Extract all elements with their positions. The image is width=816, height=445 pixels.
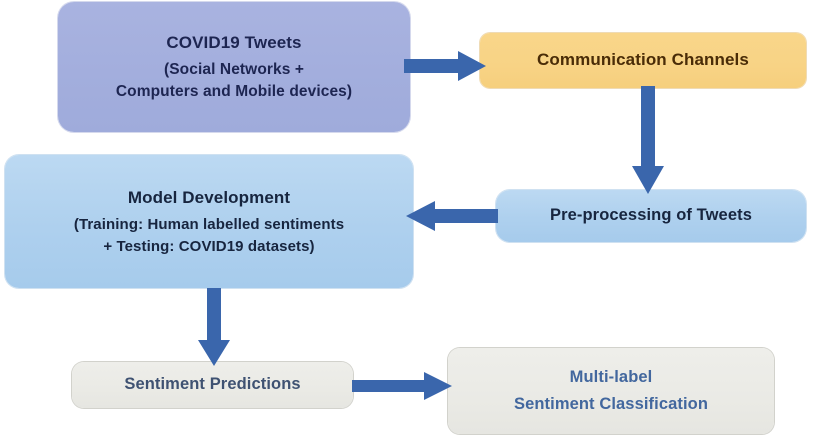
node-model-development-line2: (Training: Human labelled sentiments — [5, 214, 413, 235]
arrow-right-icon-predictions-to-multi-label — [352, 372, 452, 400]
node-covid19-tweets[interactable]: COVID19 Tweets (Social Networks + Comput… — [58, 2, 410, 132]
node-communication-channels-label: Communication Channels — [480, 48, 806, 72]
node-covid19-tweets-line3: Computers and Mobile devices) — [58, 81, 410, 103]
arrow-right-icon-source-to-channel — [404, 51, 486, 81]
node-communication-channels[interactable]: Communication Channels — [480, 33, 806, 88]
node-model-development-title: Model Development — [5, 186, 413, 210]
arrow-left-icon-preprocessing-to-model-development — [406, 201, 498, 231]
node-sentiment-predictions[interactable]: Sentiment Predictions — [72, 362, 353, 408]
node-model-development[interactable]: Model Development (Training: Human label… — [5, 155, 413, 288]
node-preprocessing-of-tweets-label: Pre-processing of Tweets — [496, 204, 806, 227]
node-multi-label-line1: Multi-label — [448, 366, 774, 389]
node-preprocessing-of-tweets[interactable]: Pre-processing of Tweets — [496, 190, 806, 242]
node-multi-label-sentiment-classification[interactable]: Multi-label Sentiment Classification — [448, 348, 774, 434]
node-covid19-tweets-title: COVID19 Tweets — [58, 31, 410, 55]
arrow-down-icon-channel-to-preprocessing — [632, 86, 664, 194]
flowchart-canvas: COVID19 Tweets (Social Networks + Comput… — [0, 0, 816, 445]
arrow-down-icon-model-development-to-predictions — [198, 288, 230, 366]
node-model-development-line3: + Testing: COVID19 datasets) — [5, 236, 413, 257]
node-sentiment-predictions-label: Sentiment Predictions — [72, 373, 353, 396]
node-multi-label-line2: Sentiment Classification — [448, 393, 774, 416]
node-covid19-tweets-line2: (Social Networks + — [58, 59, 410, 81]
